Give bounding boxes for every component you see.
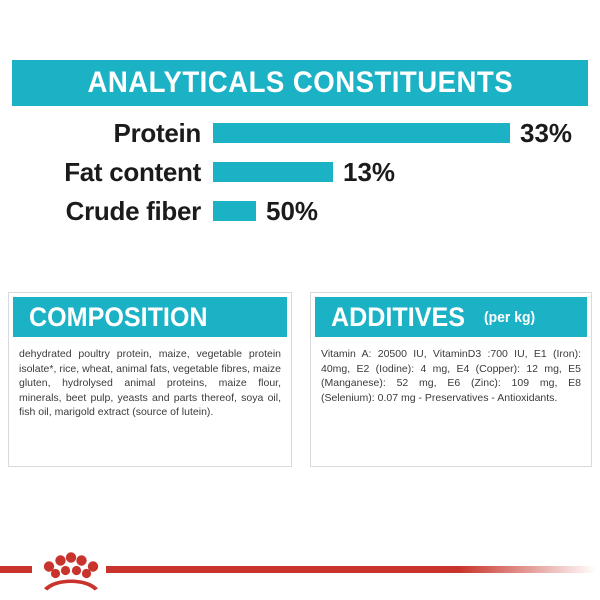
composition-title: COMPOSITION — [29, 302, 208, 333]
chart-value-label: 13% — [333, 157, 395, 188]
chart-category-label: Protein — [12, 118, 213, 149]
chart-bar — [213, 123, 510, 143]
additives-subtitle: (per kg) — [484, 309, 535, 326]
additives-header: ADDITIVES (per kg) — [315, 297, 587, 337]
analytical-constituents-title: ANALYTICALS CONSTITUENTS — [87, 66, 513, 100]
composition-header: COMPOSITION — [13, 297, 287, 337]
chart-row: Fat content 13% — [12, 157, 588, 187]
additives-title: ADDITIVES — [331, 302, 465, 333]
additives-body-text: Vitamin A: 20500 IU, VitaminD3 :700 IU, … — [311, 337, 591, 405]
chart-category-label: Fat content — [12, 157, 213, 188]
additives-panel: ADDITIVES (per kg) Vitamin A: 20500 IU, … — [310, 292, 592, 467]
chart-row: Crude fiber 50% — [12, 196, 588, 226]
analytical-constituents-chart: Protein 33% Fat content 13% Crude fiber … — [12, 118, 588, 230]
chart-value-label: 50% — [256, 196, 318, 227]
chart-value-label: 33% — [510, 118, 572, 149]
footer-brand-bar — [0, 556, 600, 600]
chart-bar — [213, 201, 256, 221]
footer-rule-right — [106, 566, 596, 573]
chart-row: Protein 33% — [12, 118, 588, 148]
chart-category-label: Crude fiber — [12, 196, 213, 227]
detail-panels: COMPOSITION dehydrated poultry protein, … — [8, 292, 592, 467]
composition-body-text: dehydrated poultry protein, maize, veget… — [9, 337, 291, 420]
analytical-constituents-header: ANALYTICALS CONSTITUENTS — [12, 60, 588, 106]
royal-canin-crown-icon — [38, 551, 104, 593]
composition-panel: COMPOSITION dehydrated poultry protein, … — [8, 292, 292, 467]
product-info-panel: { "brand": { "logo_name": "royal-canin-c… — [0, 0, 600, 600]
chart-bar — [213, 162, 333, 182]
footer-rule-left — [0, 566, 32, 573]
